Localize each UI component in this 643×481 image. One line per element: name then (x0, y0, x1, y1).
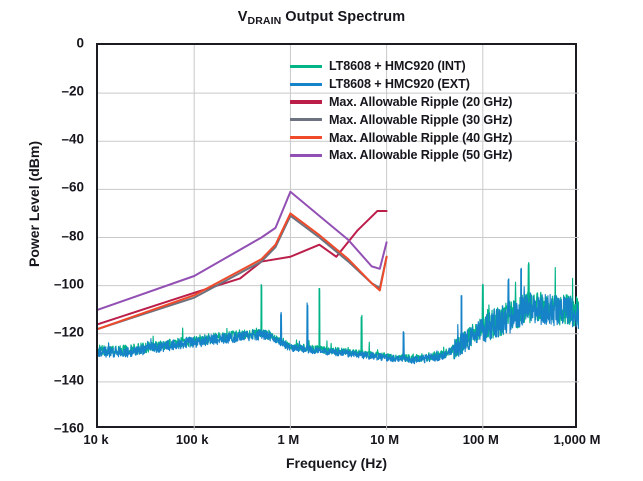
y-tick-label: –20 (61, 84, 84, 99)
legend-label: LT8608 + HMC920 (INT) (329, 59, 466, 73)
limit-line (98, 192, 387, 310)
chart-legend: LT8608 + HMC920 (INT)LT8608 + HMC920 (EX… (290, 58, 512, 164)
legend-label: Max. Allowable Ripple (20 GHz) (329, 95, 512, 109)
legend-label: Max. Allowable Ripple (40 GHz) (329, 131, 512, 145)
y-tick-label: –120 (54, 324, 84, 339)
legend-swatch-icon (290, 136, 322, 139)
legend-label: LT8608 + HMC920 (EXT) (329, 77, 470, 91)
legend-swatch-icon (290, 154, 322, 157)
title-prefix: V (238, 9, 248, 25)
legend-label: Max. Allowable Ripple (30 GHz) (329, 113, 512, 127)
x-axis-label: Frequency (Hz) (96, 455, 577, 471)
x-tick-label: 10 M (370, 432, 399, 447)
y-tick-label: 0 (76, 36, 84, 51)
y-tick-label: –140 (54, 372, 84, 387)
x-tick-label: 1 M (278, 432, 300, 447)
legend-item[interactable]: Max. Allowable Ripple (20 GHz) (290, 94, 512, 111)
title-suffix: Output Spectrum (285, 9, 405, 25)
limit-line (98, 211, 387, 324)
title-subscript: DRAIN (248, 15, 282, 27)
legend-item[interactable]: LT8608 + HMC920 (EXT) (290, 76, 512, 93)
y-axis-label: Power Level (dBm) (26, 104, 42, 304)
x-tick-label: 10 k (83, 432, 108, 447)
x-tick-label: 1,000 M (554, 432, 601, 447)
y-tick-label: –100 (54, 276, 84, 291)
chart-container: VDRAINOutput Spectrum 0–20–40–60–80–100–… (0, 0, 643, 481)
chart-title: VDRAINOutput Spectrum (0, 9, 643, 25)
y-tick-label: –160 (54, 421, 84, 436)
y-tick-label: –60 (61, 180, 84, 195)
legend-item[interactable]: Max. Allowable Ripple (30 GHz) (290, 111, 512, 128)
legend-item[interactable]: LT8608 + HMC920 (INT) (290, 58, 512, 75)
y-tick-label: –40 (61, 132, 84, 147)
spectrum-trace (98, 268, 579, 363)
legend-swatch-icon (290, 83, 322, 86)
legend-item[interactable]: Max. Allowable Ripple (50 GHz) (290, 147, 512, 164)
legend-swatch-icon (290, 65, 322, 68)
x-tick-label: 100 M (463, 432, 499, 447)
x-tick-label: 100 k (176, 432, 209, 447)
legend-swatch-icon (290, 118, 322, 121)
legend-label: Max. Allowable Ripple (50 GHz) (329, 148, 512, 162)
y-tick-label: –80 (61, 228, 84, 243)
legend-item[interactable]: Max. Allowable Ripple (40 GHz) (290, 129, 512, 146)
limit-line (98, 216, 387, 329)
legend-swatch-icon (290, 100, 322, 103)
